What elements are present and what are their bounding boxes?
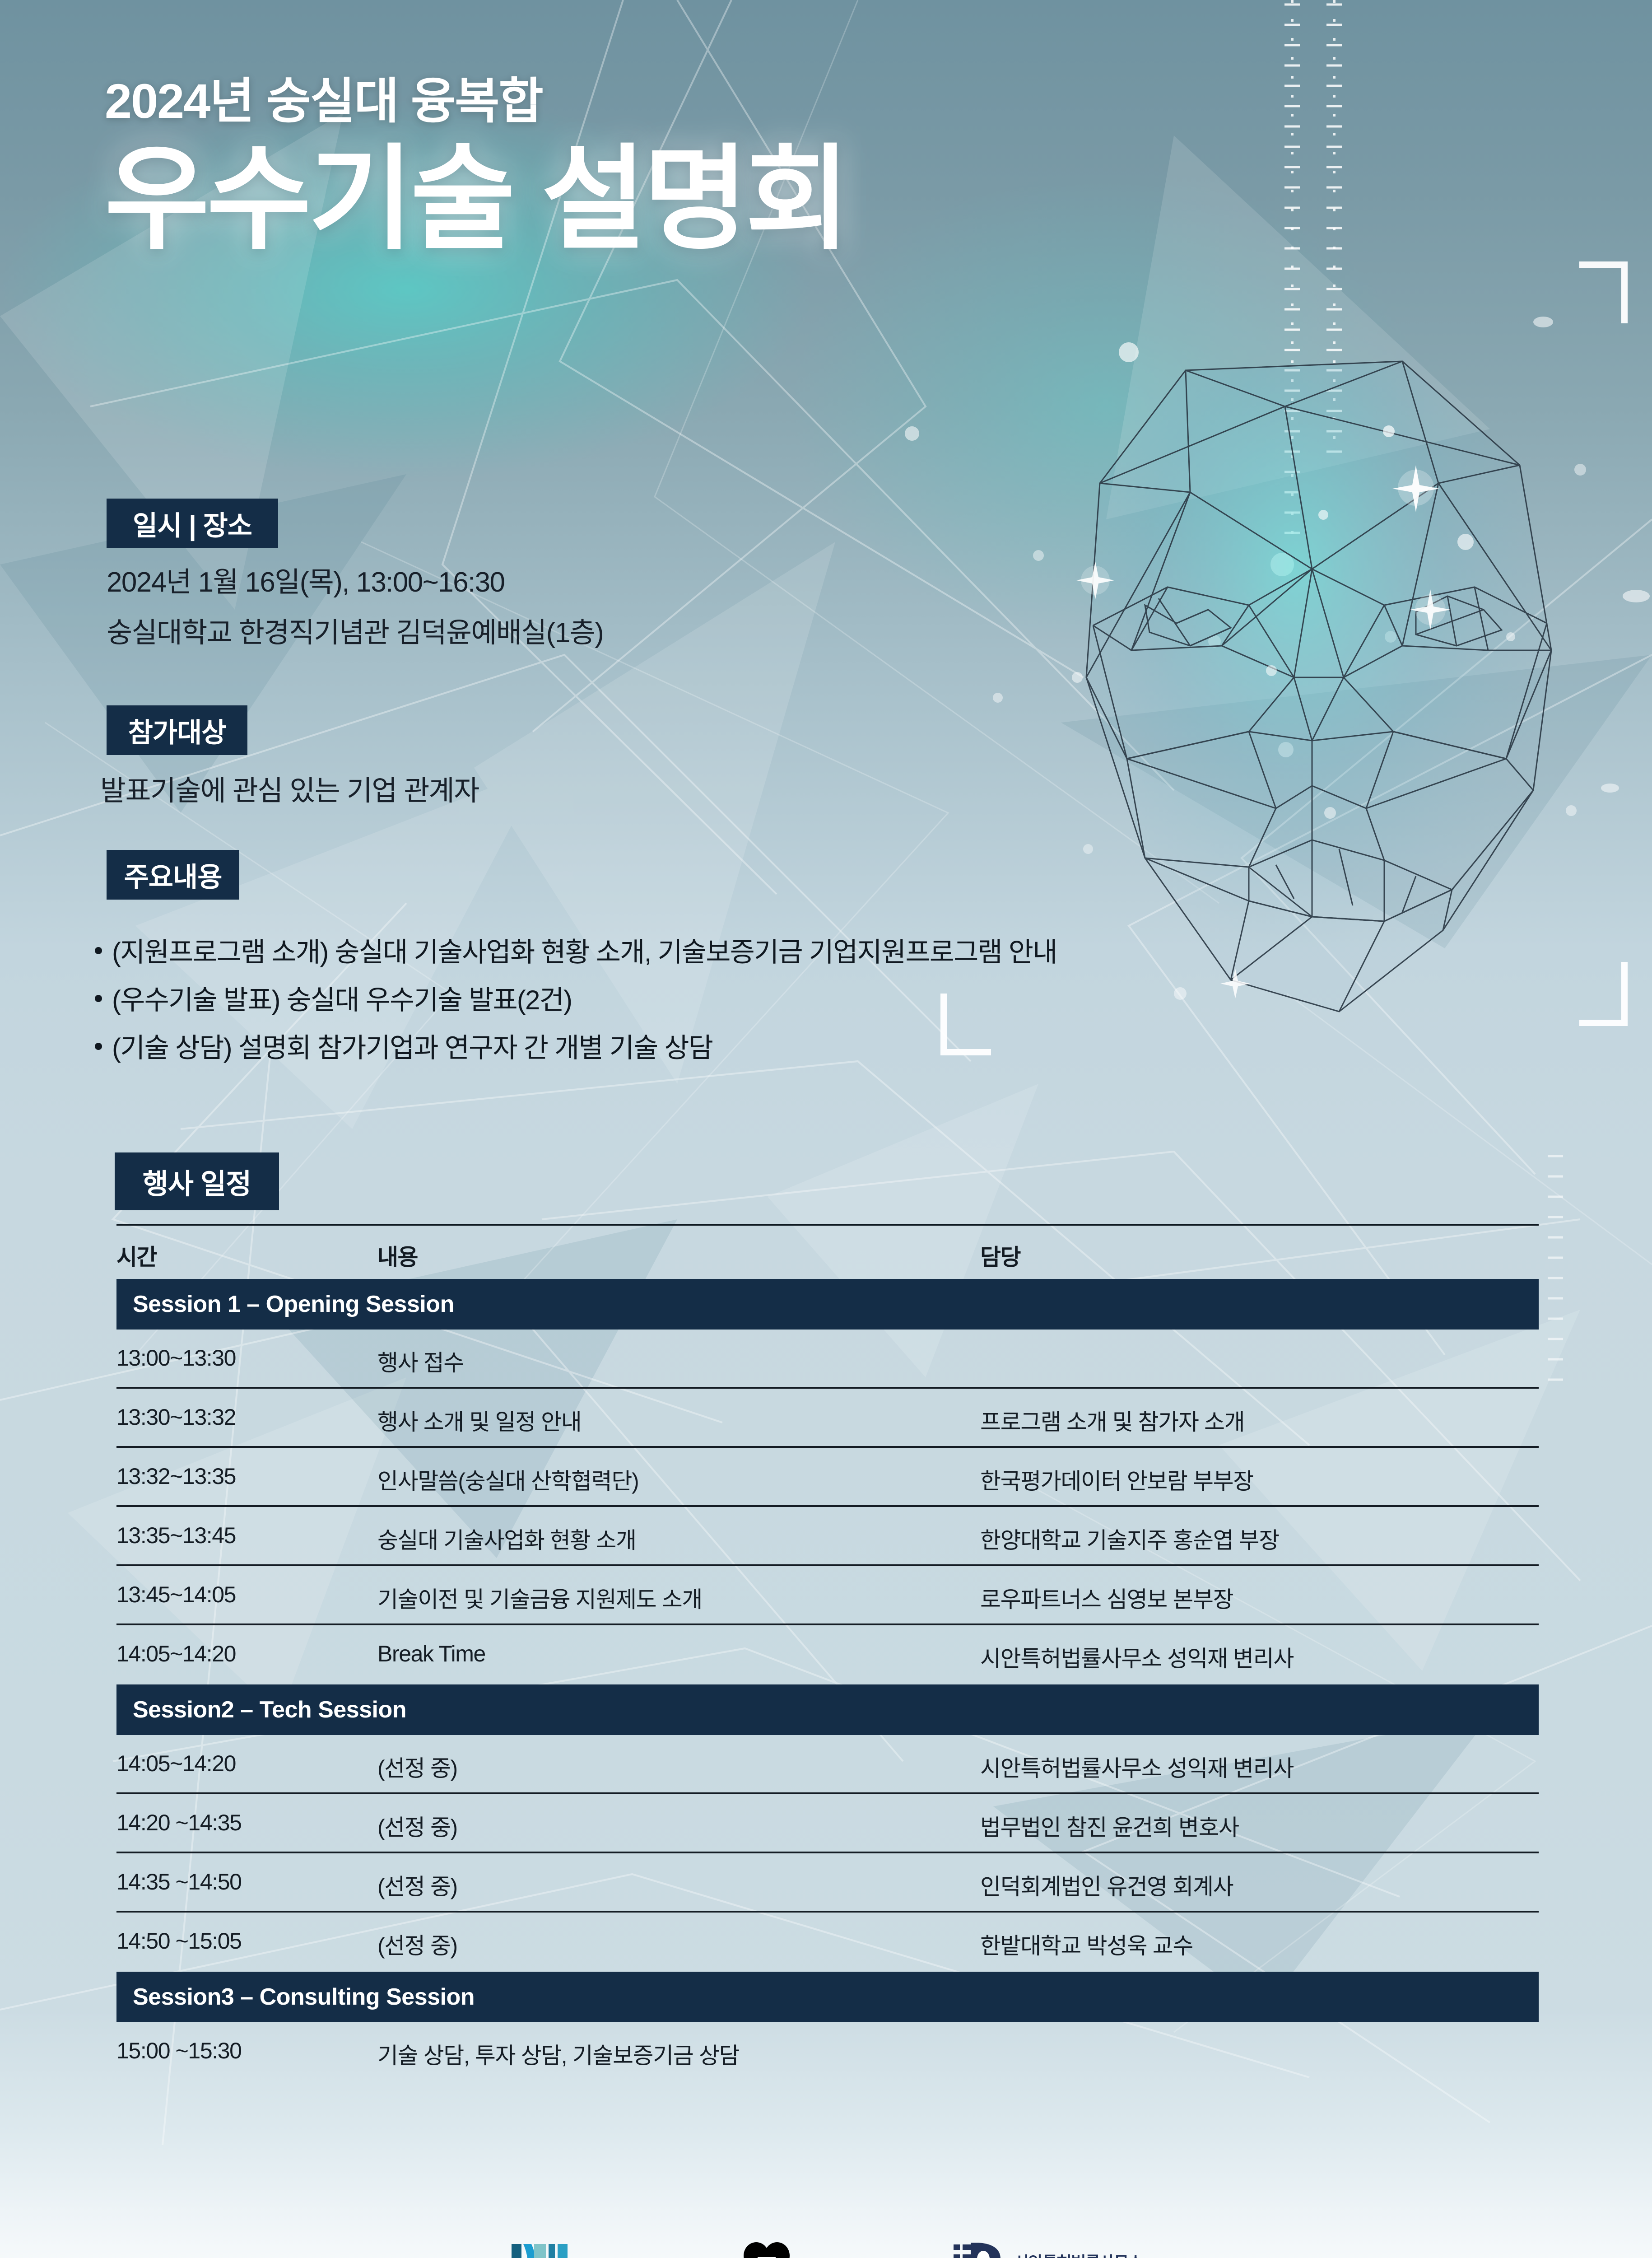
cell-owner: 시안특허법률사무소 성익재 변리사 [980, 1641, 1294, 1673]
bullet-text: (기술 상담) 설명회 참가기업과 연구자 간 개별 기술 상담 [112, 1033, 712, 1063]
event-poster: 2024년 숭실대 융복합 우수기술 설명회 일시 | 장소 2024년 1월 … [0, 0, 1652, 2258]
title-block: 2024년 숭실대 융복합 우수기술 설명회 [105, 75, 847, 259]
bullet-text: (우수기술 발표) 숭실대 우수기술 발표(2건) [112, 985, 572, 1015]
logo-xiann-textblock: 시안특허법률사무소 XIANN Patent & Law Firm [1014, 2249, 1143, 2258]
badge-main-content: 주요내용 [107, 850, 239, 900]
cell-time: 14:05~14:20 [116, 1641, 236, 1667]
schedule-table: 시간 내용 담당 Session 1 – Opening Session 13:… [116, 1224, 1539, 2081]
table-row: 13:45~14:05 기술이전 및 기술금융 지원제도 소개 로우파트너스 심… [116, 1566, 1539, 1625]
bullet-dot-icon [95, 1043, 102, 1050]
low-poly-head-graphic [996, 334, 1592, 1025]
ssu-mark-icon [510, 2241, 577, 2258]
column-header-topic: 내용 [377, 1239, 418, 1272]
bullet-dot-icon [95, 947, 102, 954]
cell-topic: 숭실대 기술사업화 현황 소개 [377, 1522, 636, 1555]
column-header-time: 시간 [116, 1239, 157, 1272]
logo-ssu: 숭실대학교 [510, 2241, 690, 2258]
bullet-text: (지원프로그램 소개) 숭실대 기술사업화 현황 소개, 기술보증기금 기업지원… [112, 937, 1057, 967]
cell-owner: 프로그램 소개 및 참가자 소개 [980, 1404, 1244, 1437]
cell-time: 13:45~14:05 [116, 1582, 236, 1608]
cell-topic: (선정 중) [377, 1869, 457, 1901]
session-bar-1: Session 1 – Opening Session [116, 1279, 1539, 1330]
cell-topic: 인사말씀(숭실대 산학협력단) [377, 1463, 638, 1496]
cell-time: 13:30~13:32 [116, 1404, 236, 1430]
cell-owner: 한국평가데이터 안보람 부부장 [980, 1463, 1253, 1496]
badge-datetime-place: 일시 | 장소 [107, 499, 278, 548]
cell-time: 13:00~13:30 [116, 1345, 236, 1371]
xiann-mark-icon [951, 2240, 1005, 2258]
table-header-row: 시간 내용 담당 [116, 1226, 1539, 1279]
column-header-owner: 담당 [980, 1239, 1020, 1272]
main-content-bullet-3: (기술 상담) 설명회 참가기업과 연구자 간 개별 기술 상담 [95, 1026, 712, 1065]
table-row: 13:32~13:35 인사말씀(숭실대 산학협력단) 한국평가데이터 안보람 … [116, 1448, 1539, 1507]
cell-topic: (선정 중) [377, 1750, 457, 1783]
cell-owner: 시안특허법률사무소 성익재 변리사 [980, 1750, 1294, 1783]
cell-time: 15:00 ~15:30 [116, 2038, 242, 2064]
logo-xiann-label: 시안특허법률사무소 [1014, 2249, 1143, 2258]
cell-topic: Break Time [377, 1641, 485, 1667]
cell-time: 14:05~14:20 [116, 1750, 236, 1777]
cell-topic: (선정 중) [377, 1928, 457, 1960]
bullet-dot-icon [95, 995, 102, 1002]
footer-logos: 숭실대학교 SIGONG [0, 2240, 1652, 2258]
table-row: 13:35~13:45 숭실대 기술사업화 현황 소개 한양대학교 기술지주 홍… [116, 1507, 1539, 1566]
cell-topic: 행사 소개 및 일정 안내 [377, 1404, 581, 1437]
cell-time: 14:35 ~14:50 [116, 1869, 242, 1895]
table-row: 15:00 ~15:30 기술 상담, 투자 상담, 기술보증기금 상담 [116, 2022, 1539, 2081]
cell-topic: 기술 상담, 투자 상담, 기술보증기금 상담 [377, 2038, 739, 2070]
main-content-bullet-1: (지원프로그램 소개) 숭실대 기술사업화 현황 소개, 기술보증기금 기업지원… [95, 930, 1057, 970]
cell-owner: 법무법인 참진 윤건희 변호사 [980, 1810, 1239, 1842]
cell-time: 14:50 ~15:05 [116, 1928, 242, 1954]
datetime-line: 2024년 1월 16일(목), 13:00~16:30 [107, 559, 504, 600]
logo-sigong-label: SIGONG [802, 2254, 900, 2258]
cell-topic: (선정 중) [377, 1810, 457, 1842]
audience-line: 발표기술에 관심 있는 기업 관계자 [100, 768, 479, 808]
page-title: 우수기술 설명회 [105, 140, 847, 260]
logo-sigong: SIGONG [740, 2242, 900, 2258]
table-row: 13:00~13:30 행사 접수 [116, 1330, 1539, 1389]
logo-xiann: 시안특허법률사무소 XIANN Patent & Law Firm [951, 2240, 1143, 2258]
badge-audience: 참가대상 [107, 705, 247, 755]
cell-owner: 로우파트너스 심영보 본부장 [980, 1582, 1233, 1614]
table-row: 14:05~14:20 (선정 중) 시안특허법률사무소 성익재 변리사 [116, 1735, 1539, 1794]
cell-owner: 한양대학교 기술지주 홍순엽 부장 [980, 1522, 1279, 1555]
place-line: 숭실대학교 한경직기념관 김덕윤예배실(1층) [107, 610, 603, 650]
table-row: 14:50 ~15:05 (선정 중) 한밭대학교 박성욱 교수 [116, 1913, 1539, 1972]
table-row: 14:05~14:20 Break Time 시안특허법률사무소 성익재 변리사 [116, 1625, 1539, 1684]
sigong-mark-icon [740, 2242, 793, 2258]
cell-topic: 기술이전 및 기술금융 지원제도 소개 [377, 1582, 702, 1614]
table-row: 13:30~13:32 행사 소개 및 일정 안내 프로그램 소개 및 참가자 … [116, 1389, 1539, 1448]
logo-ssu-label: 숭실대학교 [586, 2252, 690, 2258]
cell-time: 13:32~13:35 [116, 1463, 236, 1489]
cell-owner: 한밭대학교 박성욱 교수 [980, 1928, 1193, 1960]
cell-owner: 인덕회계법인 유건영 회계사 [980, 1869, 1233, 1901]
badge-schedule: 행사 일정 [115, 1152, 279, 1210]
session-bar-2: Session2 – Tech Session [116, 1684, 1539, 1735]
cell-topic: 행사 접수 [377, 1345, 464, 1377]
main-content-bullet-2: (우수기술 발표) 숭실대 우수기술 발표(2건) [95, 978, 572, 1017]
session-bar-3: Session3 – Consulting Session [116, 1972, 1539, 2022]
cell-time: 13:35~13:45 [116, 1522, 236, 1549]
cell-time: 14:20 ~14:35 [116, 1810, 242, 1836]
table-row: 14:35 ~14:50 (선정 중) 인덕회계법인 유건영 회계사 [116, 1853, 1539, 1913]
poster-kicker: 2024년 숭실대 융복합 [105, 75, 847, 128]
table-row: 14:20 ~14:35 (선정 중) 법무법인 참진 윤건희 변호사 [116, 1794, 1539, 1853]
